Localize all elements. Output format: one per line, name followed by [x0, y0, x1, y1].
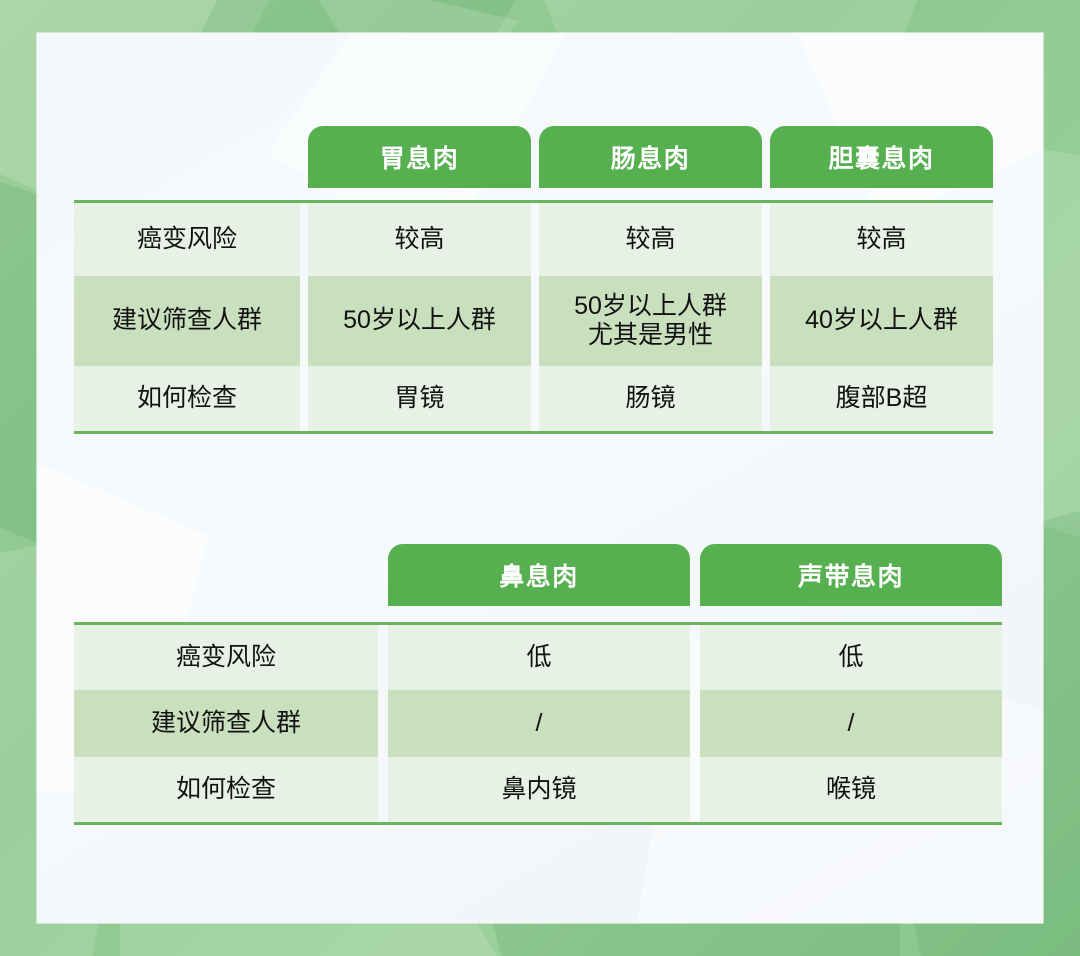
- row-label-screening-population: 建议筛查人群: [74, 690, 378, 757]
- table-row: 如何检查 鼻内镜 喉镜: [74, 757, 1002, 822]
- column-gap: [690, 690, 700, 757]
- header-gap: [690, 544, 700, 606]
- column-header-gallbladder-polyp[interactable]: 胆囊息肉: [770, 126, 993, 188]
- row-label-how-to-examine: 如何检查: [74, 757, 378, 822]
- column-gap: [762, 366, 770, 431]
- cell-gastric-screening-population: 50岁以上人群: [308, 276, 531, 366]
- column-gap: [690, 625, 700, 690]
- table-row: 建议筛查人群 / /: [74, 690, 1002, 757]
- cell-nasal-screening-population: /: [388, 690, 690, 757]
- table-row: 建议筛查人群 50岁以上人群 50岁以上人群 尤其是男性 40岁以上人群: [74, 276, 993, 366]
- column-gap: [531, 366, 539, 431]
- table-row: 如何检查 胃镜 肠镜 腹部B超: [74, 366, 993, 431]
- column-header-nasal-polyp[interactable]: 鼻息肉: [388, 544, 690, 606]
- cell-nasal-exam: 鼻内镜: [388, 757, 690, 822]
- cell-vocal-cord-exam: 喉镜: [700, 757, 1002, 822]
- cell-gastric-exam: 胃镜: [308, 366, 531, 431]
- cell-intestinal-cancer-risk: 较高: [539, 203, 762, 276]
- table-header-row: 鼻息肉 声带息肉: [74, 544, 1002, 606]
- column-gap: [300, 366, 308, 431]
- cell-gallbladder-exam: 腹部B超: [770, 366, 993, 431]
- header-gap: [300, 126, 308, 188]
- column-gap: [690, 757, 700, 822]
- cell-intestinal-screening-population: 50岁以上人群 尤其是男性: [539, 276, 762, 366]
- column-gap: [378, 757, 388, 822]
- cell-vocal-cord-screening-population: /: [700, 690, 1002, 757]
- column-gap: [531, 276, 539, 366]
- row-label-how-to-examine: 如何检查: [74, 366, 300, 431]
- header-gap: [378, 544, 388, 606]
- table-body: 癌变风险 较高 较高 较高 建议筛查人群 50岁以上人群 50岁以上人群 尤其是…: [74, 200, 993, 434]
- cell-gallbladder-cancer-risk: 较高: [770, 203, 993, 276]
- cell-gallbladder-screening-population: 40岁以上人群: [770, 276, 993, 366]
- cell-nasal-cancer-risk: 低: [388, 625, 690, 690]
- row-label-cancer-risk: 癌变风险: [74, 203, 300, 276]
- column-gap: [762, 203, 770, 276]
- cell-vocal-cord-cancer-risk: 低: [700, 625, 1002, 690]
- header-corner-spacer: [74, 544, 378, 606]
- table-header-row: 胃息肉 肠息肉 胆囊息肉: [74, 126, 993, 188]
- cell-intestinal-exam: 肠镜: [539, 366, 762, 431]
- column-header-intestinal-polyp[interactable]: 肠息肉: [539, 126, 762, 188]
- header-gap: [762, 126, 770, 188]
- column-gap: [762, 276, 770, 366]
- column-gap: [531, 203, 539, 276]
- column-gap: [378, 690, 388, 757]
- table-row: 癌变风险 低 低: [74, 625, 1002, 690]
- column-header-gastric-polyp[interactable]: 胃息肉: [308, 126, 531, 188]
- row-label-cancer-risk: 癌变风险: [74, 625, 378, 690]
- column-gap: [378, 625, 388, 690]
- header-corner-spacer: [74, 126, 300, 188]
- column-gap: [300, 203, 308, 276]
- column-header-vocal-cord-polyp[interactable]: 声带息肉: [700, 544, 1002, 606]
- table-row: 癌变风险 较高 较高 较高: [74, 203, 993, 276]
- row-label-screening-population: 建议筛查人群: [74, 276, 300, 366]
- header-gap: [531, 126, 539, 188]
- cell-gastric-cancer-risk: 较高: [308, 203, 531, 276]
- table-body: 癌变风险 低 低 建议筛查人群 / / 如何检查 鼻内镜 喉镜: [74, 622, 1002, 825]
- column-gap: [300, 276, 308, 366]
